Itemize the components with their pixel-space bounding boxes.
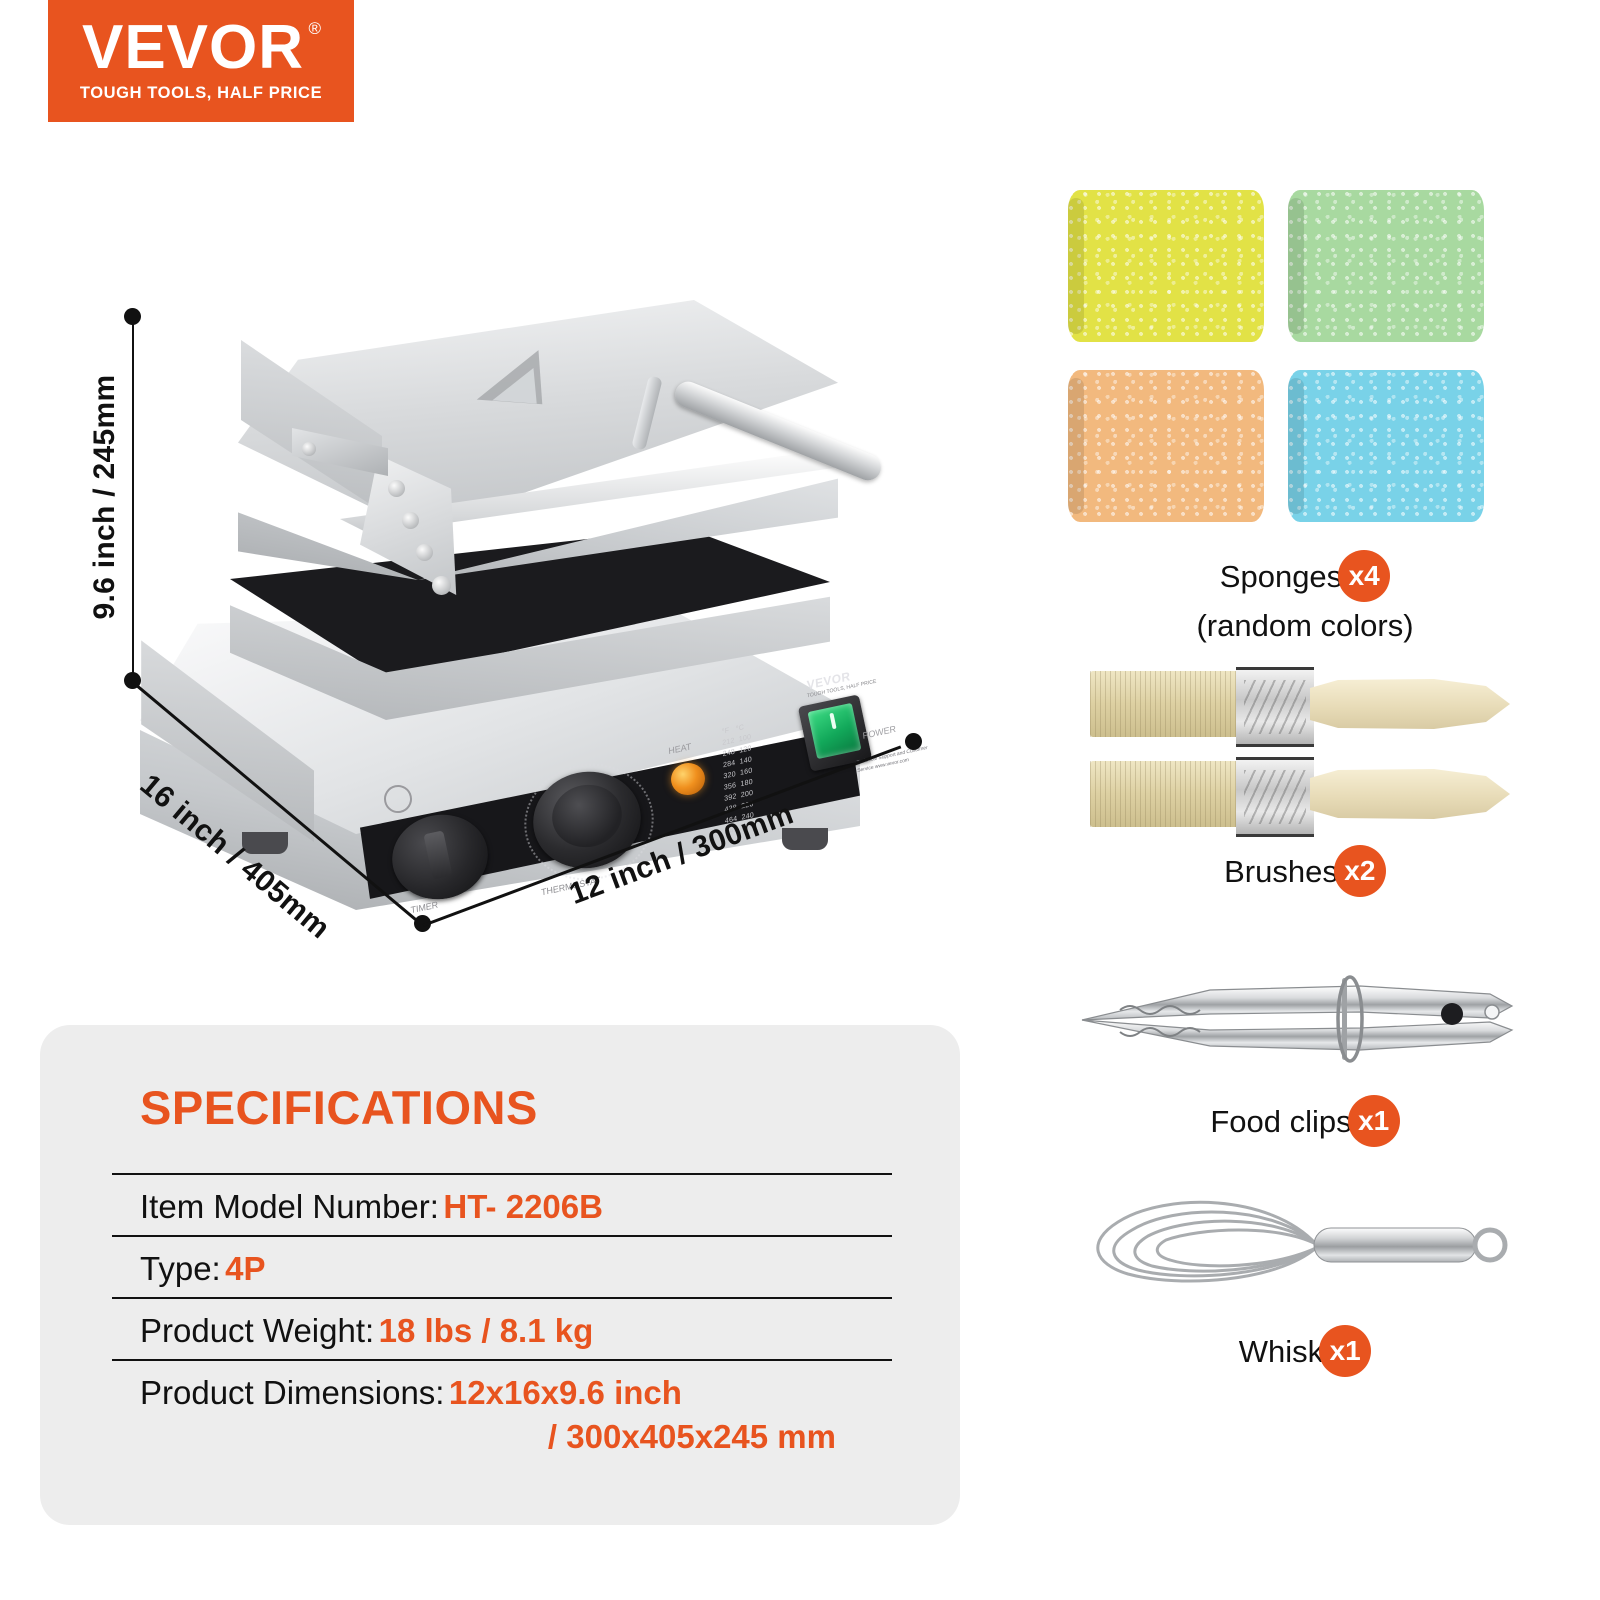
accessory-sponges: Sponges x4 (random colors)	[1020, 170, 1590, 644]
brushes-label: Brushes	[1224, 856, 1338, 887]
brush-1-bristles	[1090, 671, 1238, 737]
sponges-qty-badge: x4	[1338, 550, 1390, 602]
sponge-green	[1288, 190, 1484, 342]
spec-label-dimensions: Product Dimensions:	[140, 1374, 444, 1411]
spec-row-weight: Product Weight: 18 lbs / 8.1 kg	[112, 1297, 892, 1359]
logo-tagline: TOUGH TOOLS, HALF PRICE	[80, 84, 322, 103]
product-photo-with-dimensions: TIMER THERMOSTAT HEAT °F °C 212 100248 1…	[60, 180, 960, 980]
brush-2	[1090, 755, 1510, 833]
whisk-illustration	[1070, 1180, 1530, 1310]
brush-1-handle	[1310, 679, 1510, 729]
sponge-yellow	[1068, 190, 1264, 342]
hinge-screw-2	[402, 512, 419, 529]
tongs-hole-large	[1441, 1003, 1463, 1025]
spec-value-dimensions-metric: / 300x405x245 mm	[140, 1418, 892, 1456]
sponges-label: Sponges	[1220, 561, 1342, 592]
brush-1-ferrule	[1236, 667, 1314, 747]
vevor-logo: VEVOR® TOUGH TOOLS, HALF PRICE	[48, 0, 354, 122]
hinge-bracket-screw	[302, 442, 316, 456]
accessory-whisk: Whisk x1	[1020, 1175, 1590, 1377]
whisk-qty-badge: x1	[1319, 1325, 1371, 1377]
sponges-caption: Sponges x4	[1020, 550, 1590, 602]
tongs-lower-arm	[1082, 1020, 1512, 1050]
spec-value-dimensions: 12x16x9.6 inch	[449, 1374, 682, 1411]
spec-row-dimensions: Product Dimensions: 12x16x9.6 inch / 300…	[112, 1359, 892, 1465]
whisk-wire-loops	[1098, 1202, 1316, 1281]
width-dim-dot	[905, 733, 922, 750]
hinge-screw-4	[432, 576, 451, 595]
brush-2-handle	[1310, 769, 1510, 819]
power-switch[interactable]	[808, 703, 862, 759]
spec-label-type: Type:	[140, 1250, 221, 1287]
brush-1	[1090, 665, 1510, 743]
registered-trademark-icon: ®	[309, 21, 323, 37]
spec-row-model: Item Model Number: HT- 2206B	[112, 1173, 892, 1235]
food-clips-caption: Food clips x1	[1020, 1095, 1590, 1147]
hinge-screw-3	[416, 544, 433, 561]
logo-wordmark-text: VEVOR	[82, 13, 304, 82]
spec-label-weight: Product Weight:	[140, 1312, 374, 1349]
food-clips-illustration	[1060, 950, 1530, 1080]
brushes-caption: Brushes x2	[1020, 845, 1590, 897]
logo-wordmark: VEVOR®	[82, 19, 320, 76]
sponges-note: (random colors)	[1020, 608, 1590, 644]
spec-value-type: 4P	[225, 1250, 265, 1287]
hinge-screw-1	[388, 480, 405, 497]
specifications-title: SPECIFICATIONS	[140, 1080, 538, 1135]
food-clips-qty-badge: x1	[1348, 1095, 1400, 1147]
specifications-table: Item Model Number: HT- 2206B Type: 4P Pr…	[112, 1173, 892, 1465]
accessory-food-clips: Food clips x1	[1020, 945, 1590, 1147]
sponge-orange	[1068, 370, 1264, 522]
accessories-column: Sponges x4 (random colors) Brushes x2	[1020, 170, 1590, 1550]
height-dim-line	[132, 316, 135, 676]
spec-value-model: HT- 2206B	[443, 1188, 603, 1225]
brushes-qty-badge: x2	[1334, 845, 1386, 897]
brush-2-ferrule	[1236, 757, 1314, 837]
sponge-blue	[1288, 370, 1484, 522]
spec-row-type: Type: 4P	[112, 1235, 892, 1297]
accessory-brushes: Brushes x2	[1020, 655, 1590, 897]
whisk-hanging-loop	[1475, 1230, 1505, 1260]
spec-value-weight: 18 lbs / 8.1 kg	[379, 1312, 594, 1349]
specifications-panel: SPECIFICATIONS Item Model Number: HT- 22…	[40, 1025, 960, 1525]
tongs-hanging-hole	[1485, 1005, 1499, 1019]
spec-label-model: Item Model Number:	[140, 1188, 439, 1225]
food-clips-label: Food clips	[1210, 1106, 1351, 1137]
whisk-caption: Whisk x1	[1020, 1325, 1590, 1377]
whisk-handle	[1314, 1228, 1476, 1262]
height-dim-label: 9.6 inch / 245mm	[88, 347, 122, 647]
brush-2-bristles	[1090, 761, 1238, 827]
whisk-label: Whisk	[1239, 1336, 1323, 1367]
